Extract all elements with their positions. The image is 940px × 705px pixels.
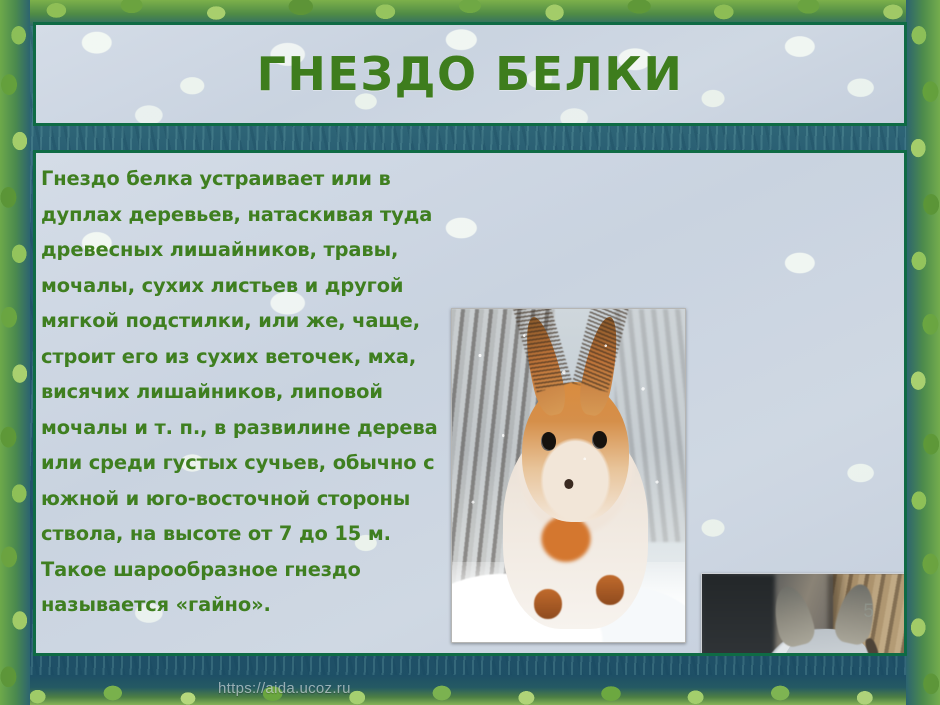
dark-background — [702, 574, 775, 656]
image-red-squirrel-in-snow — [451, 308, 686, 643]
image-grey-squirrel-on-trunk — [701, 573, 907, 656]
presentation-slide: ГНЕЗДО БЕЛКИ Гнездо белка устраивает или… — [0, 0, 940, 705]
slide-body-box: Гнездо белка устраивает или в дуплах дер… — [33, 150, 907, 656]
red-squirrel-illustration — [452, 309, 685, 642]
slide-title-box: ГНЕЗДО БЕЛКИ — [33, 22, 907, 126]
grey-squirrel-illustration — [702, 574, 907, 656]
slide-page-number: 5 — [863, 601, 874, 623]
body-paragraph: Гнездо белка устраивает или в дуплах дер… — [41, 161, 441, 623]
source-watermark: https://aida.ucoz.ru — [218, 680, 351, 697]
falling-snow-specks — [452, 309, 685, 642]
grey-squirrel-ear-left — [768, 583, 818, 650]
image-grey-squirrel-frame-inner — [702, 574, 907, 656]
page-title: ГНЕЗДО БЕЛКИ — [257, 51, 684, 97]
image-red-squirrel-frame-inner — [452, 309, 685, 642]
